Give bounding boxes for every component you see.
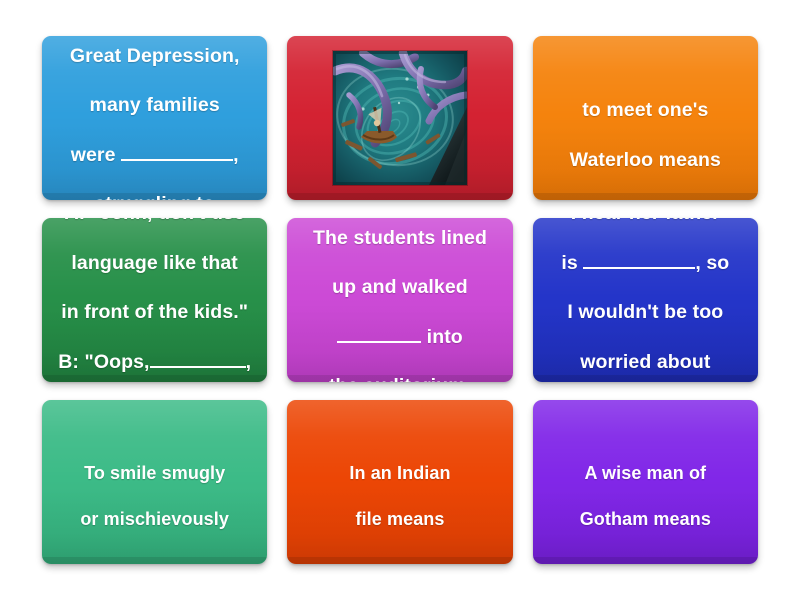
fill-in-blank: [150, 366, 246, 368]
tile-line: A: "John, don't use: [64, 218, 244, 224]
tile-line-prefix: B: "Oops,: [58, 351, 149, 373]
tile-students-lined-up[interactable]: The students lined up and walked into th…: [287, 218, 512, 382]
tile-line: The students lined: [313, 227, 487, 249]
tile-text: A wise man of Gotham means: [570, 438, 721, 532]
tile-line-suffix: ,: [233, 144, 239, 166]
tile-line: I hear her father: [571, 218, 720, 224]
tile-line: I wouldn't be too: [567, 301, 723, 323]
tile-meet-waterloo[interactable]: to meet one's Waterloo means: [533, 36, 758, 200]
tile-john-language[interactable]: A: "John, don't use language like that i…: [42, 218, 267, 382]
tile-text: During the Great Depression, many famili…: [60, 36, 250, 200]
tile-her-father-is[interactable]: I hear her father is , so I wouldn't be …: [533, 218, 758, 382]
tile-line: to meet one's: [582, 99, 708, 121]
tile-wise-man-gotham[interactable]: A wise man of Gotham means: [533, 400, 758, 564]
fill-in-blank: [583, 267, 695, 269]
tile-line-suffix: into: [421, 326, 463, 348]
tile-image: [333, 51, 467, 185]
tile-line: the auditorium.: [329, 375, 471, 382]
tile-line: struggling to: [94, 193, 214, 200]
tile-line: language like that: [71, 252, 238, 274]
tile-line-suffix: ,: [246, 351, 252, 373]
tile-text: The students lined up and walked into th…: [303, 218, 497, 382]
tile-line: worried about: [580, 351, 710, 373]
tile-line: many families: [90, 94, 220, 116]
fill-in-blank: [337, 341, 421, 343]
tile-text: A: "John, don't use language like that i…: [48, 218, 261, 382]
tile-line: up and walked: [332, 276, 468, 298]
tile-line-prefix: were: [71, 144, 121, 166]
tile-text: To smile smugly or mischievously: [70, 438, 239, 532]
tile-line: or mischievously: [80, 509, 229, 529]
tile-great-depression[interactable]: During the Great Depression, many famili…: [42, 36, 267, 200]
tile-board: During the Great Depression, many famili…: [0, 0, 800, 600]
tile-line: A wise man of: [584, 463, 706, 483]
tile-line: Gotham means: [580, 509, 711, 529]
tile-indian-file[interactable]: In an Indian file means: [287, 400, 512, 564]
tile-text: I hear her father is , so I wouldn't be …: [551, 218, 739, 382]
tile-line: in front of the kids.": [61, 301, 248, 323]
fill-in-blank: [121, 159, 233, 161]
tile-sea-monster-image[interactable]: [287, 36, 512, 200]
tile-line-prefix: is: [561, 252, 583, 274]
tile-line: file means: [355, 509, 444, 529]
tile-text: to meet one's Waterloo means: [560, 74, 731, 173]
tile-line-suffix: , so: [695, 252, 729, 274]
tile-line: In an Indian: [349, 463, 450, 483]
tile-line: Waterloo means: [570, 149, 721, 171]
tile-smile-smugly[interactable]: To smile smugly or mischievously: [42, 400, 267, 564]
tile-line: To smile smugly: [84, 463, 225, 483]
tile-line: Great Depression,: [70, 45, 240, 67]
tile-text: In an Indian file means: [339, 438, 460, 532]
